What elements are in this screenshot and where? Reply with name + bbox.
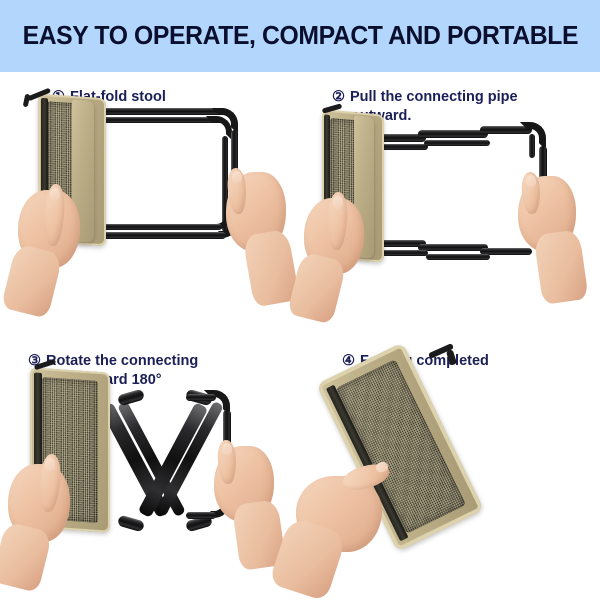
step-panel-2: ② Pull the connecting pipe outward.	[300, 72, 600, 336]
step-1-illustration	[0, 72, 300, 336]
page-title: EASY TO OPERATE, COMPACT AND PORTABLE	[22, 22, 578, 51]
step-panel-4: ④ Folding completed	[300, 336, 600, 600]
steps-grid: ① Flat-fold stool	[0, 72, 600, 600]
step-2-illustration	[300, 72, 600, 336]
step-3-illustration	[0, 336, 300, 600]
step-4-illustration	[300, 336, 600, 600]
step-panel-1: ① Flat-fold stool	[0, 72, 300, 336]
step-panel-3: ③ Rotate the connecting pipe inward 180°	[0, 336, 300, 600]
header-banner: EASY TO OPERATE, COMPACT AND PORTABLE	[0, 0, 600, 72]
